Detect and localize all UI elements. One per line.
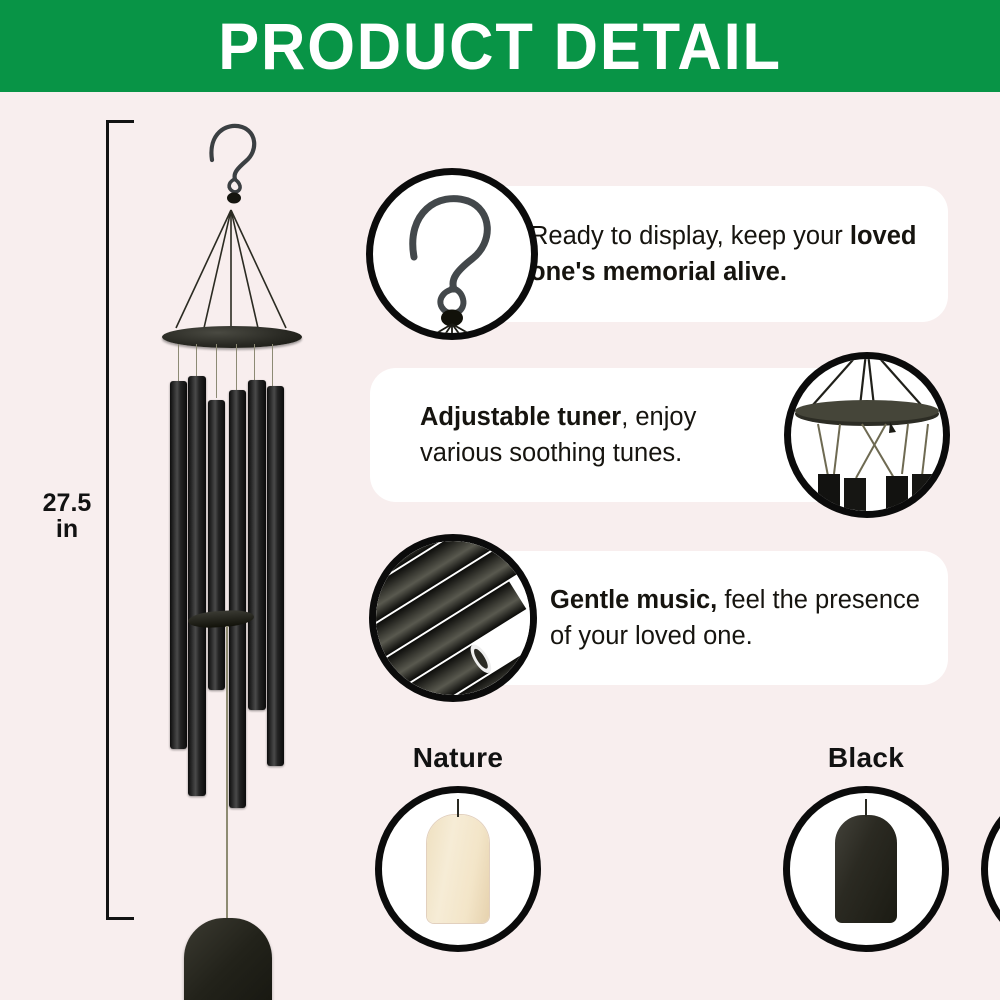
variant-label-nature: Nature — [363, 742, 553, 774]
feature-photo-tubes — [369, 534, 537, 702]
tube-cord — [196, 344, 197, 378]
tuner-disc-icon — [784, 352, 950, 518]
hanging-sail — [184, 918, 272, 1000]
tube-cord — [272, 344, 273, 388]
feature-text-adjustable-tuner: Adjustable tuner, enjoy various soothing… — [420, 399, 774, 471]
variant-label-brown: Brown — [969, 742, 1000, 774]
feature-text-bold: Adjustable tuner — [420, 403, 621, 431]
chime-tube — [229, 390, 246, 808]
tube-cord — [178, 344, 179, 384]
dimension-label: 27.5 in — [34, 490, 100, 543]
chime-tube — [248, 380, 266, 710]
chime-tubes-icon — [369, 534, 537, 702]
product-illustration — [140, 118, 330, 928]
s-hook-icon — [392, 185, 512, 335]
feature-text-plain: Ready to display, keep your — [530, 222, 850, 250]
variant-label-black: Black — [771, 742, 961, 774]
feature-text-gentle-music: Gentle music, feel the presence of your … — [550, 582, 920, 654]
chime-tube — [208, 400, 225, 690]
variant-black[interactable]: Black — [771, 742, 961, 952]
tube-cord — [254, 344, 255, 380]
header-banner: PRODUCT DETAIL — [0, 0, 1000, 92]
sail-string — [865, 799, 867, 817]
top-disc — [162, 326, 302, 348]
height-measurement-bracket — [106, 120, 136, 920]
variant-photo-nature — [375, 786, 541, 952]
dimension-value: 27.5 — [43, 489, 92, 517]
variant-nature[interactable]: Nature — [363, 742, 553, 952]
measure-line — [106, 120, 109, 920]
tube-cord — [236, 344, 237, 390]
feature-text-bold: Gentle music, — [550, 586, 717, 614]
chime-tube — [188, 376, 206, 796]
feature-photo-s-hook — [366, 168, 538, 340]
variant-photo-black — [783, 786, 949, 952]
measure-cap-bottom — [106, 917, 134, 920]
sail-string — [457, 799, 459, 817]
variant-photo-brown — [981, 786, 1000, 952]
sail-nature — [427, 815, 489, 923]
sail-string — [226, 626, 228, 918]
chime-tube — [170, 381, 187, 749]
variant-brown[interactable]: Brown — [969, 742, 1000, 952]
suspension-strings — [166, 204, 296, 334]
feature-text-ready-to-display: Ready to display, keep your loved one's … — [530, 218, 920, 290]
product-detail-infographic: PRODUCT DETAIL 27.5 in — [0, 0, 1000, 1000]
s-hook-icon — [200, 118, 270, 208]
tube-cord — [216, 344, 217, 398]
sail-black — [835, 815, 897, 923]
chime-tube — [267, 386, 284, 766]
feature-photo-tuner — [784, 352, 950, 518]
page-title: PRODUCT DETAIL — [218, 13, 782, 79]
measure-cap-top — [106, 120, 134, 123]
dimension-unit: in — [34, 516, 100, 542]
